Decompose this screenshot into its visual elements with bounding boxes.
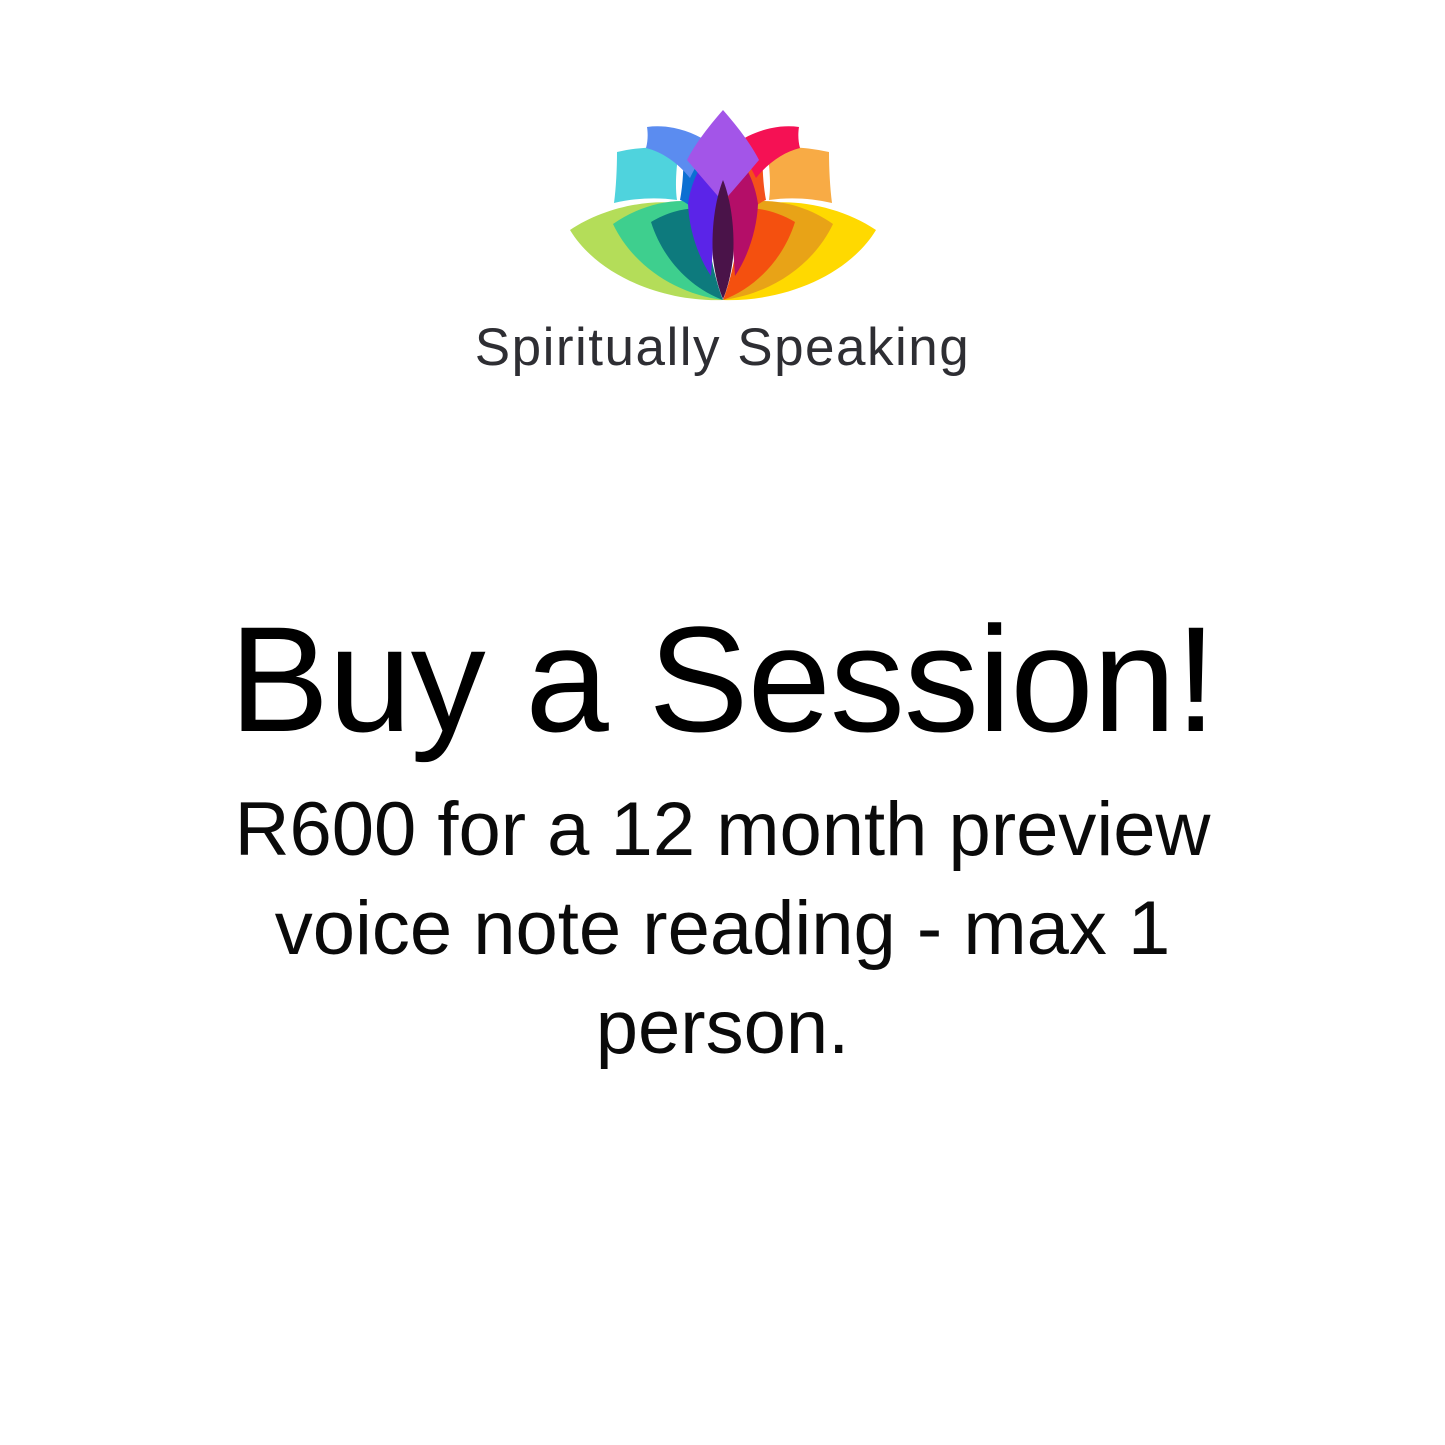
brand-block: Spiritually Speaking (0, 100, 1445, 374)
promo-card: Spiritually Speaking Buy a Session! R600… (0, 0, 1445, 1445)
page-title: Buy a Session! (229, 600, 1216, 759)
brand-name: Spiritually Speaking (475, 321, 970, 374)
message-block: Buy a Session! R600 for a 12 month previ… (0, 600, 1445, 1077)
lotus-flower-icon (543, 100, 903, 305)
offer-description: R600 for a 12 month preview voice note r… (173, 781, 1273, 1077)
